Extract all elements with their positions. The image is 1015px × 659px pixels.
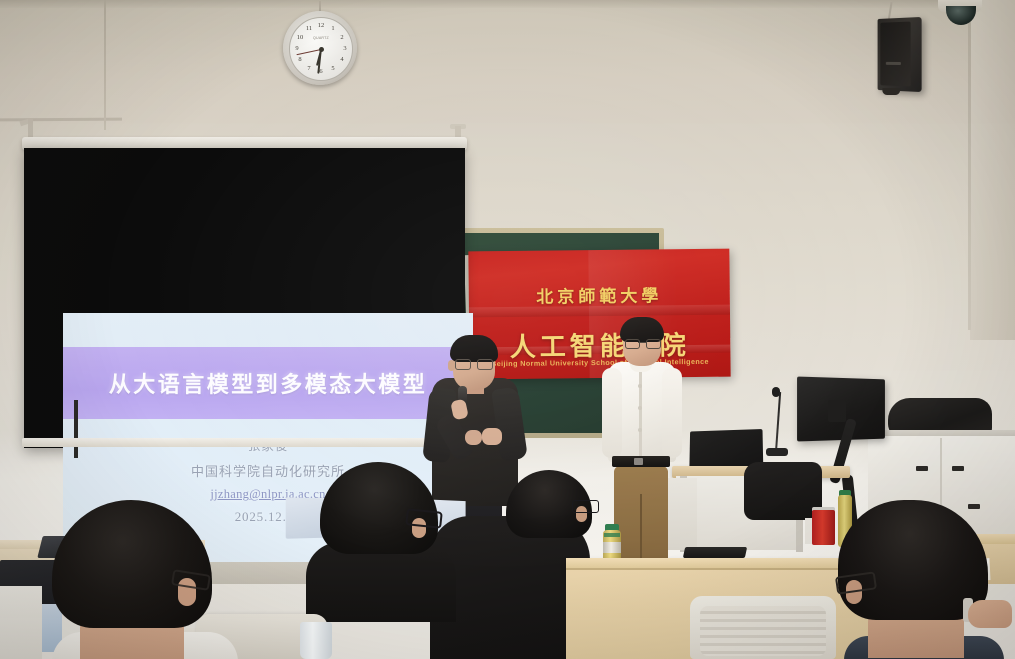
presenter-ear bbox=[448, 360, 455, 371]
tea-bottle-label bbox=[603, 542, 621, 553]
slide-title: 从大语言模型到多模态大模型 bbox=[63, 347, 473, 419]
wall-speaker bbox=[878, 17, 922, 92]
student-foreground-right bbox=[838, 500, 988, 659]
clock-numeral-7: 7 bbox=[304, 64, 314, 74]
clock-center-pin bbox=[319, 47, 324, 52]
red-beverage-can bbox=[812, 510, 835, 545]
speaker-grille bbox=[880, 22, 910, 87]
screen-bottom-weight-bar bbox=[22, 438, 468, 447]
water-bottle-foreground bbox=[300, 622, 332, 659]
student-with-glasses-left bbox=[320, 462, 440, 592]
host-belt-buckle bbox=[634, 458, 643, 465]
clock-face: QUARTZ 12 1 2 3 4 5 6 7 8 9 10 11 bbox=[289, 17, 353, 81]
presenter-hand-gesture-a bbox=[465, 430, 482, 445]
student-glasses-center bbox=[572, 500, 599, 513]
host-shirt-placket bbox=[639, 366, 642, 458]
banner-university-name: 北京師範大學 bbox=[469, 281, 730, 309]
clock-numeral-3: 3 bbox=[340, 44, 350, 54]
presenter-hand-gesture-b bbox=[482, 428, 502, 445]
presenter-glasses-right-lens bbox=[477, 359, 493, 370]
cabinet-handle-1[interactable] bbox=[916, 466, 928, 471]
monitor-vesa-mount bbox=[828, 400, 846, 422]
screen-left-frame-edge bbox=[74, 400, 78, 458]
student-fg-left-shoulder bbox=[0, 586, 42, 659]
host-glasses-bridge bbox=[638, 342, 646, 343]
host-arm-left bbox=[602, 368, 622, 458]
student-foreground-left bbox=[52, 500, 212, 659]
classroom-photo: QUARTZ 12 1 2 3 4 5 6 7 8 9 10 11 bbox=[0, 0, 1015, 659]
host-shirt-button-3 bbox=[638, 428, 642, 432]
student-left-glasses bbox=[405, 508, 443, 529]
presenter-glasses-left-lens bbox=[455, 359, 471, 370]
projection-screen: 从大语言模型到多模态大模型 张家俊 中国科学院自动化研究所 jjzhang@nl… bbox=[24, 148, 465, 448]
right-wall-seam bbox=[968, 0, 971, 330]
tea-bottle-ring bbox=[604, 533, 620, 537]
wall-clock: QUARTZ 12 1 2 3 4 5 6 7 8 9 10 11 bbox=[283, 11, 357, 85]
clock-numeral-4: 4 bbox=[337, 55, 347, 65]
clock-numeral-8: 8 bbox=[295, 55, 305, 65]
cabinet-handle-2[interactable] bbox=[952, 466, 964, 471]
host-glasses-right-lens bbox=[646, 339, 661, 349]
host-shirt-button-2 bbox=[638, 406, 642, 410]
tablet-on-surface bbox=[683, 547, 747, 558]
clock-numeral-10: 10 bbox=[295, 33, 305, 43]
ceiling-soffit bbox=[0, 0, 1015, 8]
clock-numeral-12: 12 bbox=[316, 21, 326, 31]
student-left-body bbox=[306, 542, 456, 622]
clock-numeral-11: 11 bbox=[304, 24, 314, 34]
presenter-hair bbox=[450, 335, 498, 362]
right-wall bbox=[970, 0, 1015, 340]
black-backpack bbox=[744, 462, 822, 520]
speaker-logo bbox=[886, 62, 901, 65]
student-left-hair bbox=[320, 462, 438, 554]
speaker-bracket bbox=[881, 88, 900, 95]
wall-corner-seam bbox=[104, 0, 106, 130]
microphone-base bbox=[766, 448, 788, 456]
student-fg-left-hair bbox=[52, 500, 212, 628]
clock-numeral-2: 2 bbox=[337, 33, 347, 43]
host-shirt-button-1 bbox=[638, 384, 642, 388]
chair-center-backrest bbox=[700, 606, 826, 656]
student-fg-right-hand bbox=[968, 600, 1012, 628]
host-arm-right bbox=[662, 368, 682, 458]
screen-bracket-left-post bbox=[28, 118, 33, 138]
host-glasses-left-lens bbox=[625, 339, 640, 349]
clock-numeral-5: 5 bbox=[328, 64, 338, 74]
